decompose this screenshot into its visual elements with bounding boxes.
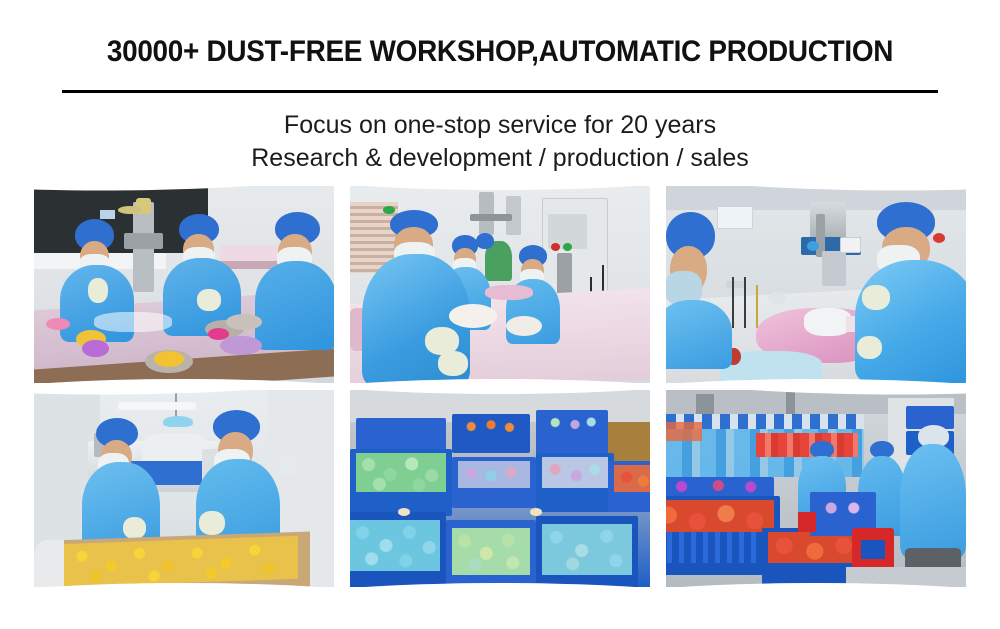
banner-header: 30000+ DUST-FREE WORKSHOP,AUTOMATIC PROD… xyxy=(0,0,1000,175)
photo-5-scene xyxy=(350,390,650,587)
photo-1-scene xyxy=(34,186,334,383)
photo-workbench-assembly xyxy=(34,186,334,383)
page-title: 30000+ DUST-FREE WORKSHOP,AUTOMATIC PROD… xyxy=(35,36,965,68)
photo-packing-hall xyxy=(666,390,966,587)
photo-6-scene xyxy=(666,390,966,587)
header-divider xyxy=(62,90,938,93)
photo-row-top xyxy=(34,186,966,383)
factory-capability-banner: 30000+ DUST-FREE WORKSHOP,AUTOMATIC PROD… xyxy=(0,0,1000,629)
subtitle-block: Focus on one-stop service for 20 years R… xyxy=(0,109,1000,175)
photo-row-bottom xyxy=(34,390,966,587)
photo-assembly-line xyxy=(350,186,650,383)
photo-gallery xyxy=(34,186,966,586)
subtitle-line-1: Focus on one-stop service for 20 years xyxy=(0,109,1000,142)
divider-wrap xyxy=(0,90,1000,93)
subtitle-line-2: Research & development / production / sa… xyxy=(0,142,1000,175)
photo-wrapping-machine xyxy=(34,390,334,587)
photo-2-scene xyxy=(350,186,650,383)
photo-crate-storage xyxy=(350,390,650,587)
photo-3-scene xyxy=(666,186,966,383)
photo-pressing-machine xyxy=(666,186,966,383)
photo-4-scene xyxy=(34,390,334,587)
